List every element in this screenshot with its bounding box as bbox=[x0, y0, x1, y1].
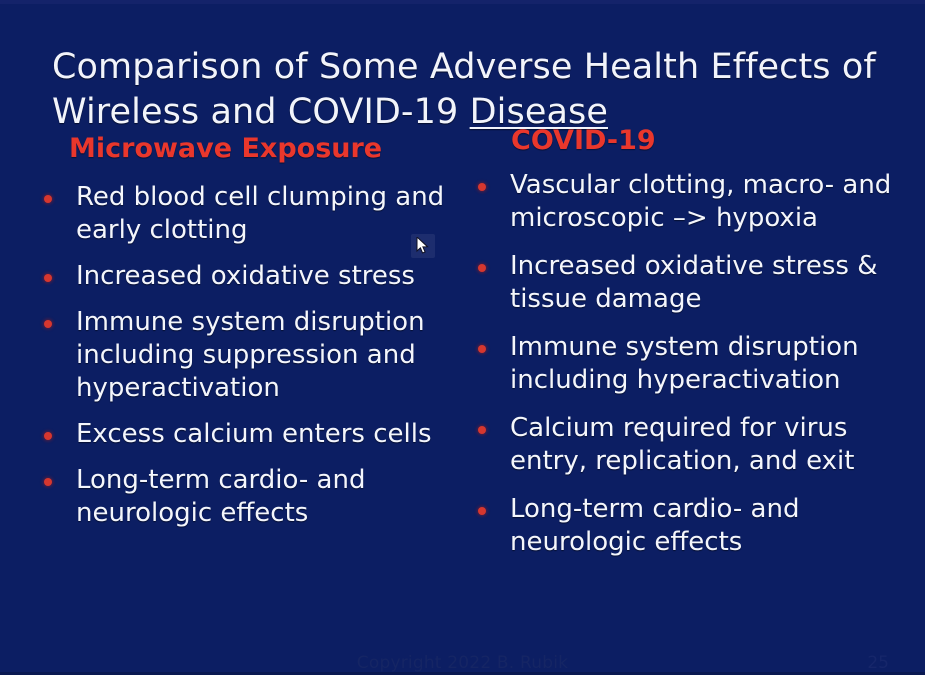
column-heading-covid-19: COVID-19 bbox=[466, 124, 911, 157]
list-item: Increased oxidative stress bbox=[30, 260, 485, 293]
footer-page-number: 25 bbox=[867, 653, 889, 673]
slide-title-line-2-prefix: Wireless and COVID-19 bbox=[52, 92, 470, 132]
footer-copyright: Copyright 2022 B. Rubik bbox=[0, 653, 925, 673]
column-heading-microwave-exposure: Microwave Exposure bbox=[30, 132, 485, 165]
list-item: Calcium required for virus entry, replic… bbox=[466, 412, 911, 478]
column-covid-19: COVID-19 Vascular clotting, macro- and m… bbox=[466, 124, 911, 574]
list-item: Red blood cell clumping and early clotti… bbox=[30, 181, 485, 247]
list-item: Vascular clotting, macro- and microscopi… bbox=[466, 169, 911, 235]
list-item: Long-term cardio- and neurologic effects bbox=[30, 464, 485, 530]
list-item: Immune system disruption including suppr… bbox=[30, 306, 485, 405]
slide-canvas: Comparison of Some Adverse Health Effect… bbox=[0, 0, 925, 675]
list-item: Immune system disruption including hyper… bbox=[466, 331, 911, 397]
list-item: Increased oxidative stress & tissue dama… bbox=[466, 250, 911, 316]
top-edge-band bbox=[0, 0, 925, 4]
slide-title: Comparison of Some Adverse Health Effect… bbox=[52, 45, 892, 135]
bullet-list-covid-19: Vascular clotting, macro- and microscopi… bbox=[466, 169, 911, 559]
list-item: Excess calcium enters cells bbox=[30, 418, 485, 451]
column-microwave-exposure: Microwave Exposure Red blood cell clumpi… bbox=[30, 132, 485, 543]
list-item: Long-term cardio- and neurologic effects bbox=[466, 493, 911, 559]
bullet-list-microwave-exposure: Red blood cell clumping and early clotti… bbox=[30, 181, 485, 530]
slide-title-line-1: Comparison of Some Adverse Health Effect… bbox=[52, 47, 876, 87]
